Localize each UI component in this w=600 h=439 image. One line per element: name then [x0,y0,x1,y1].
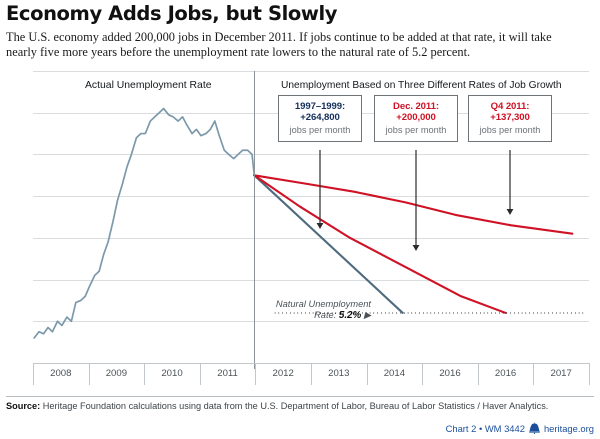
callout-heading-line2: +264,800 [283,112,357,123]
callout-box-3: Q4 2011:+137,300jobs per month [468,95,552,142]
heritage-site-link[interactable]: heritage.org [544,423,594,434]
callout-subtext: jobs per month [379,125,453,137]
callout-heading-line1: Dec. 2011: [379,101,453,112]
x-tick-label: 2011 [200,368,256,379]
x-tick-label: 2016 [478,368,534,379]
x-tick-label: 2010 [144,368,200,379]
chart-subtitle: The U.S. economy added 200,000 jobs in D… [6,30,582,59]
callout-heading: 1997–1999:+264,800 [283,101,357,124]
x-tick-label: 2012 [255,368,311,379]
callout-heading-line1: Q4 2011: [473,101,547,112]
callout-box-2: Dec. 2011:+200,000jobs per month [374,95,458,142]
source-text: Heritage Foundation calculations using d… [40,401,548,411]
natural-rate-annotation: Natural Unemployment Rate: 5.2% ▶ [247,299,371,322]
callout-heading-line1: 1997–1999: [283,101,357,112]
callout-subtext: jobs per month [283,125,357,137]
series-line [254,175,572,233]
series-line [34,109,254,338]
x-tick-label: 2008 [33,368,89,379]
page-title: Economy Adds Jobs, but Slowly [6,2,594,26]
chart-page: Economy Adds Jobs, but Slowly The U.S. e… [0,0,600,439]
x-tick-label: 2014 [367,368,423,379]
natural-rate-line2-prefix: Rate: [314,310,339,320]
natural-rate-value: 5.2% [339,310,361,321]
liberty-bell-icon [529,422,540,434]
footer-divider [6,396,594,397]
x-tick-label: 2009 [89,368,145,379]
header: Economy Adds Jobs, but Slowly The U.S. e… [6,2,594,59]
actual-series-label: Actual Unemployment Rate [85,80,211,91]
callout-heading: Q4 2011:+137,300 [473,101,547,124]
callout-heading-line2: +137,300 [473,112,547,123]
x-tick-label: 2016 [422,368,478,379]
natural-rate-line1: Natural Unemployment [276,299,371,309]
x-axis: 2008200920102011201220132014201620162017 [33,363,589,387]
y-axis: 4%5%6%7%8%9%10%11% [0,71,1,363]
callout-box-1: 1997–1999:+264,800jobs per month [278,95,362,142]
x-tick-label: 2013 [311,368,367,379]
callout-heading-line2: +200,000 [379,112,453,123]
source-label: Source: [6,401,40,411]
series-line [254,175,402,313]
x-tick-label: 2017 [533,368,589,379]
callout-heading: Dec. 2011:+200,000 [379,101,453,124]
chart-id: Chart 2 • WM 3442 [446,423,525,434]
natural-rate-arrow: ▶ [364,310,371,320]
footer-brand: Chart 2 • WM 3442 heritage.org [446,422,594,434]
projection-series-label: Unemployment Based on Three Different Ra… [281,80,562,91]
history-projection-divider [254,71,255,369]
x-tick [589,363,590,385]
callout-subtext: jobs per month [473,125,547,137]
source-note: Source: Heritage Foundation calculations… [6,401,548,411]
